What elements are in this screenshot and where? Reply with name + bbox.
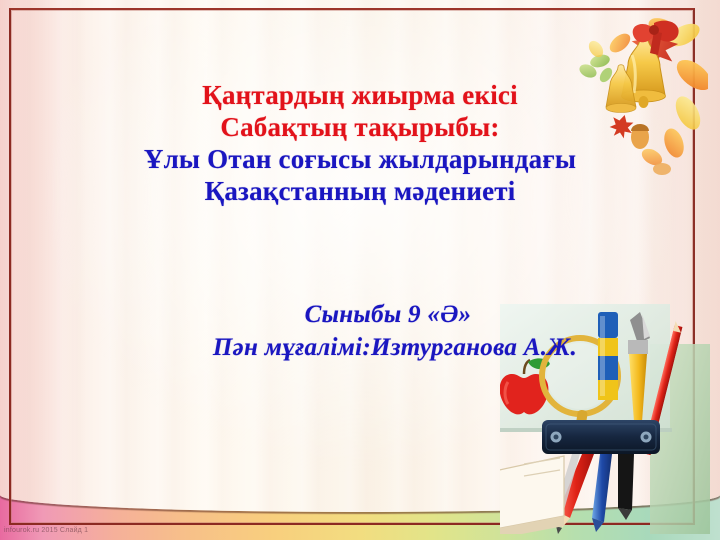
lesson-topic-line-2: Қазақстанның мәдениеті xyxy=(0,176,720,208)
class-line: Сыныбы 9 «Ә» xyxy=(0,299,720,332)
lesson-topic-line-1: Ұлы Отан соғысы жылдарындағы xyxy=(0,144,720,176)
source-watermark: infourok.ru 2015 Слайд 1 xyxy=(4,527,88,534)
teacher-line: Пән мұғалімі:Изтурганова А.Ж. xyxy=(0,332,720,365)
title-block: Қаңтардың жиырма екісі Сабақтың тақырыбы… xyxy=(0,80,720,207)
subtitle-block: Сыныбы 9 «Ә» Пән мұғалімі:Изтурганова А.… xyxy=(0,299,720,364)
presentation-slide: Қаңтардың жиырма екісі Сабақтың тақырыбы… xyxy=(0,0,720,540)
lesson-topic-label: Сабақтың тақырыбы: xyxy=(0,112,720,144)
slide-text-layer: Қаңтардың жиырма екісі Сабақтың тақырыбы… xyxy=(0,0,720,364)
date-line: Қаңтардың жиырма екісі xyxy=(0,80,720,112)
